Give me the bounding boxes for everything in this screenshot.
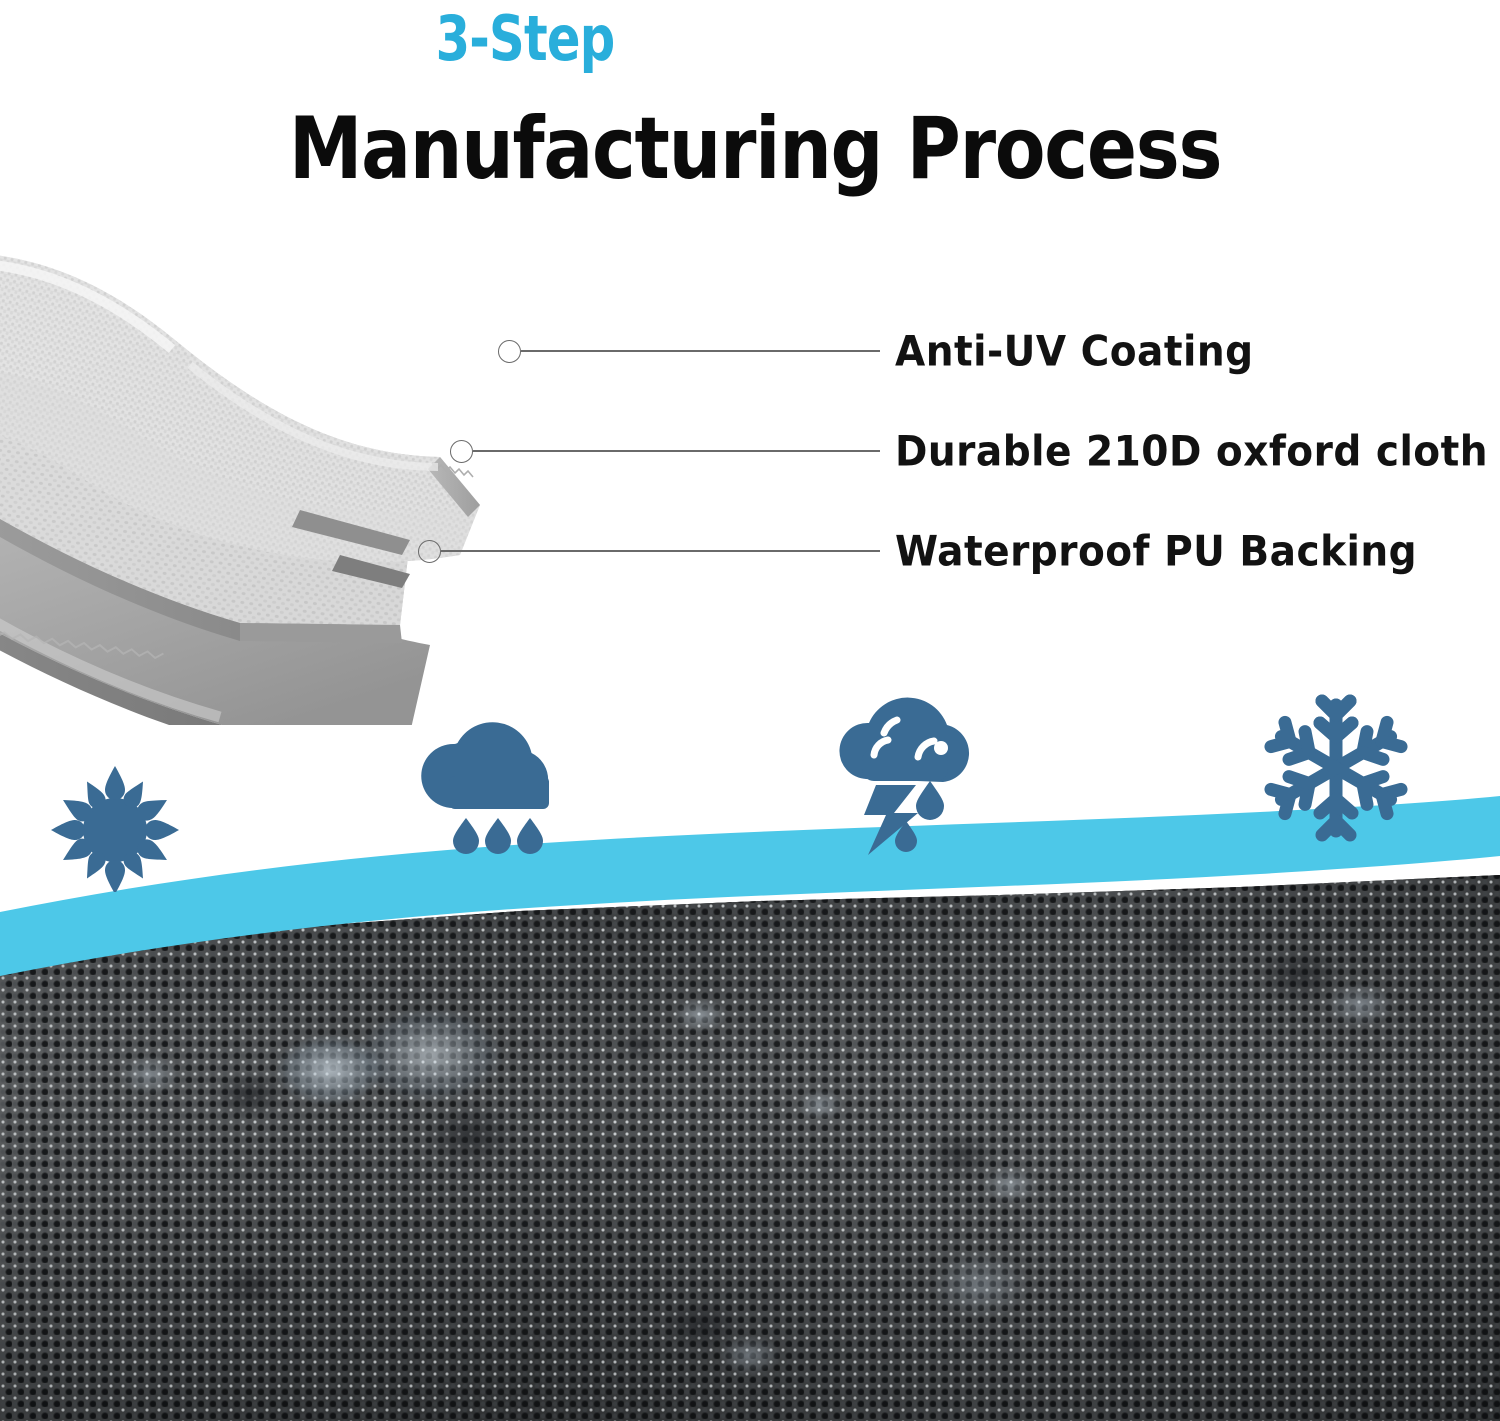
kicker-3-step: 3-Step	[0, 8, 1305, 70]
storm-cloud-icon	[818, 693, 993, 858]
weather-icon-row	[0, 0, 1500, 1421]
page-title: Manufacturing Process	[114, 106, 1395, 192]
heading-block: 3-Step Manufacturing Process	[0, 0, 1500, 192]
snowflake-icon	[1256, 693, 1416, 843]
rain-cloud-icon	[413, 714, 583, 854]
infographic-canvas: 3-Step Manufacturing Process Anti-UV Coa…	[0, 0, 1500, 1421]
sun-icon	[40, 752, 190, 892]
